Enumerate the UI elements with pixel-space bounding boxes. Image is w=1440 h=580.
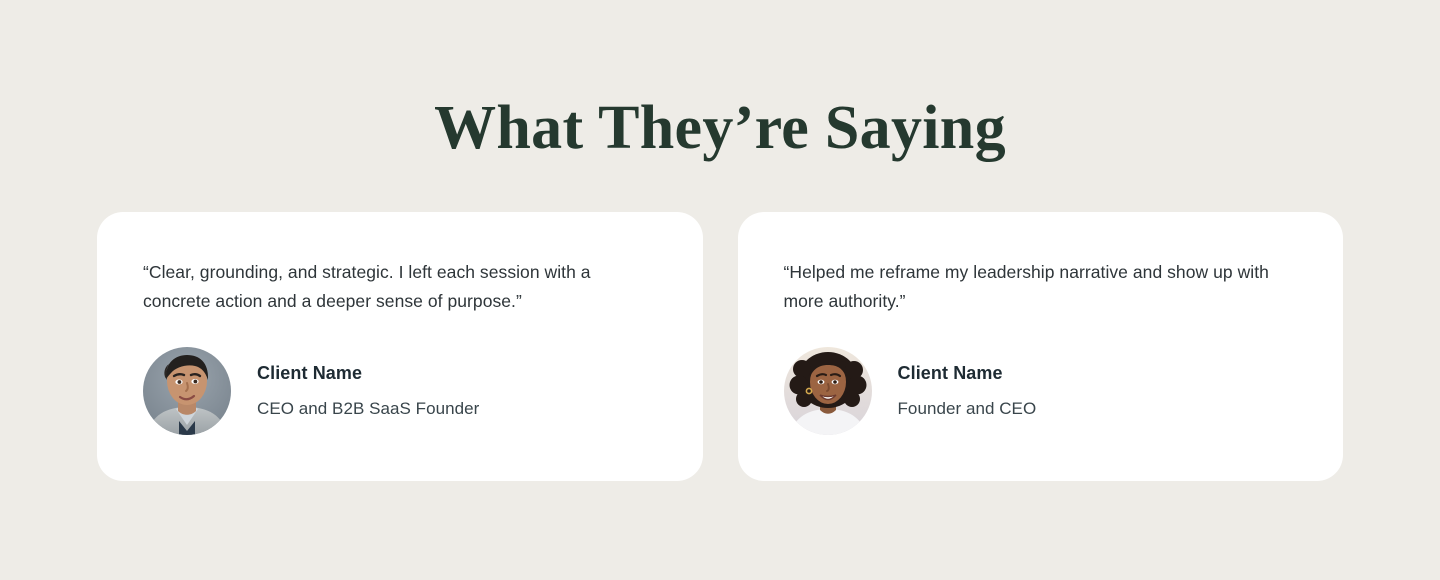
client-role: CEO and B2B SaaS Founder [257, 397, 479, 421]
testimonial-quote: “Helped me reframe my leadership narrati… [784, 258, 1298, 315]
testimonials-section: What They’re Saying “Clear, grounding, a… [0, 0, 1440, 580]
testimonial-card: “Helped me reframe my leadership narrati… [738, 212, 1344, 481]
testimonial-attribution: Client Name Founder and CEO [784, 347, 1298, 435]
client-name: Client Name [898, 361, 1037, 385]
person-details: Client Name Founder and CEO [898, 361, 1037, 421]
testimonial-quote: “Clear, grounding, and strategic. I left… [143, 258, 657, 315]
testimonial-card-list: “Clear, grounding, and strategic. I left… [97, 212, 1343, 481]
page-title: What They’re Saying [0, 92, 1440, 164]
avatar [784, 347, 872, 435]
avatar [143, 347, 231, 435]
client-role: Founder and CEO [898, 397, 1037, 421]
person-details: Client Name CEO and B2B SaaS Founder [257, 361, 479, 421]
client-name: Client Name [257, 361, 479, 385]
testimonial-card: “Clear, grounding, and strategic. I left… [97, 212, 703, 481]
testimonial-attribution: Client Name CEO and B2B SaaS Founder [143, 347, 657, 435]
